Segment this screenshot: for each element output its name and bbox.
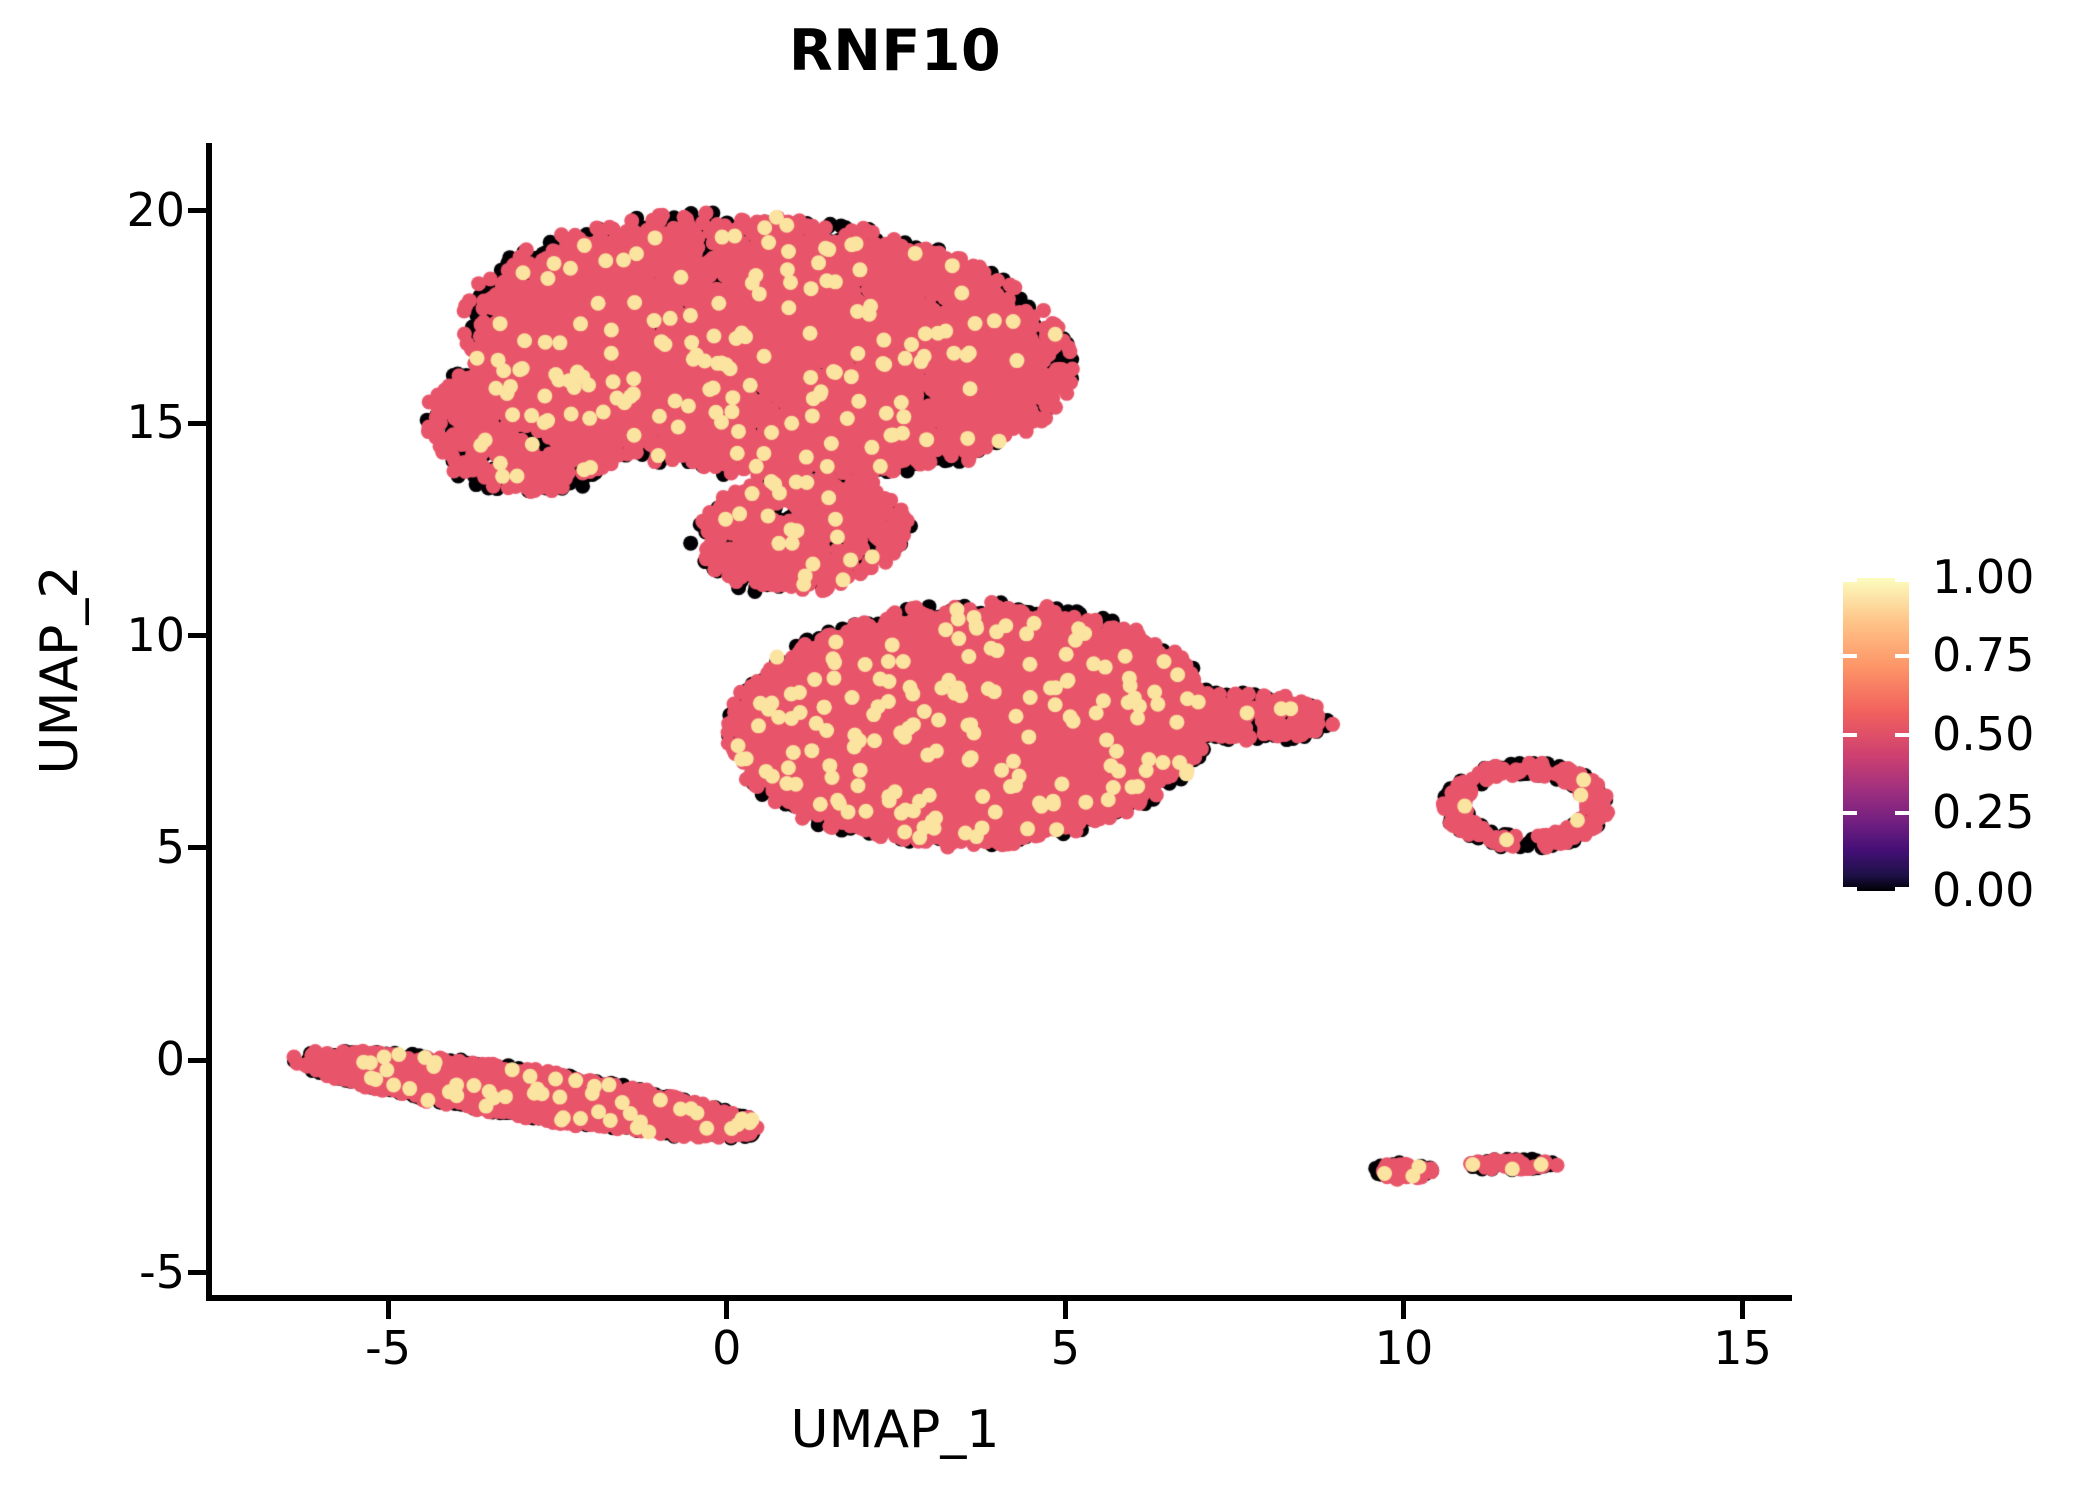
x-tick-mark — [1740, 1301, 1745, 1319]
colorbar-tick-label: 0.50 — [1932, 711, 2034, 757]
y-tick-mark — [188, 845, 206, 850]
colorbar — [1843, 578, 1909, 891]
scatter-canvas — [212, 143, 1790, 1298]
x-tick-mark — [724, 1301, 729, 1319]
x-tick-mark — [1063, 1301, 1068, 1319]
colorbar-tick-mark — [1843, 578, 1857, 582]
x-axis-spine — [206, 1295, 1792, 1301]
colorbar-tick-mark — [1843, 733, 1857, 737]
colorbar-tick-mark — [1895, 654, 1909, 658]
colorbar-tick-label: 0.75 — [1932, 632, 2034, 678]
y-axis-label: UMAP_2 — [30, 350, 90, 990]
x-tick-label: 5 — [995, 1325, 1135, 1371]
page-title: RNF10 — [0, 18, 1790, 84]
umap-feature-plot: RNF10 -505101520 -5051015 UMAP_1 UMAP_2 … — [0, 0, 2100, 1500]
colorbar-tick-mark — [1895, 578, 1909, 582]
y-axis-spine — [206, 143, 212, 1301]
colorbar-tick-label: 0.00 — [1932, 867, 2034, 913]
y-tick-mark — [188, 633, 206, 638]
x-tick-label: 10 — [1334, 1325, 1474, 1371]
colorbar-tick-label: 0.25 — [1932, 789, 2034, 835]
colorbar-tick-mark — [1843, 811, 1857, 815]
y-tick-label: 10 — [126, 612, 185, 658]
y-tick-mark — [188, 421, 206, 426]
y-tick-mark — [188, 208, 206, 213]
y-tick-label: -5 — [139, 1249, 185, 1295]
plot-area — [212, 143, 1790, 1298]
colorbar-tick-mark — [1843, 654, 1857, 658]
x-tick-label: -5 — [318, 1325, 458, 1371]
colorbar-tick-mark — [1843, 887, 1857, 891]
x-tick-label: 15 — [1673, 1325, 1813, 1371]
y-tick-label: 20 — [126, 187, 185, 233]
x-tick-mark — [386, 1301, 391, 1319]
x-tick-label: 0 — [657, 1325, 797, 1371]
colorbar-tick-label: 1.00 — [1932, 554, 2034, 600]
colorbar-tick-mark — [1895, 811, 1909, 815]
colorbar-tick-mark — [1895, 733, 1909, 737]
y-tick-label: 15 — [126, 399, 185, 445]
y-tick-label: 0 — [156, 1036, 185, 1082]
colorbar-tick-mark — [1895, 887, 1909, 891]
y-tick-mark — [188, 1270, 206, 1275]
y-tick-label: 5 — [156, 824, 185, 870]
x-tick-mark — [1401, 1301, 1406, 1319]
y-tick-mark — [188, 1058, 206, 1063]
x-axis-label: UMAP_1 — [0, 1400, 1790, 1460]
